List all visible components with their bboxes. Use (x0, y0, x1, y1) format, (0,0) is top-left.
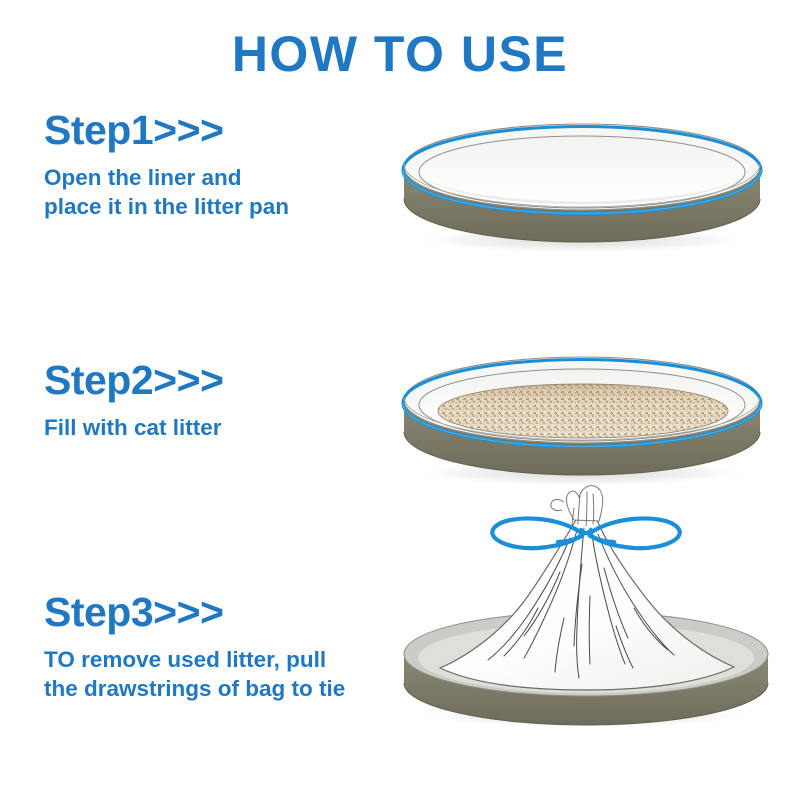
step-2-description: Fill with cat litter (44, 414, 223, 443)
step-1-heading: Step1>>> (44, 110, 289, 151)
step-1-description: Open the liner and place it in the litte… (44, 164, 289, 222)
step-3-text-block: Step3>>> TO remove used litter, pull the… (44, 592, 345, 704)
how-to-use-infographic: HOW TO USE Step1>>> Open the liner and p… (0, 0, 800, 800)
step-2-heading: Step2>>> (44, 360, 223, 401)
step-3-heading: Step3>>> (44, 592, 345, 633)
bag-gathered-neck (551, 486, 603, 521)
step-2-text-block: Step2>>> Fill with cat litter (44, 360, 223, 443)
step-3-illustration-tied-bag (378, 468, 790, 730)
step-1-text-block: Step1>>> Open the liner and place it in … (44, 110, 289, 222)
page-title: HOW TO USE (0, 28, 800, 81)
cat-litter-fill (438, 384, 728, 438)
step-1-illustration-empty-pan (382, 112, 782, 257)
step-3-description: TO remove used litter, pull the drawstri… (44, 646, 345, 704)
bag-body (440, 520, 734, 690)
drawstring-bag (440, 486, 734, 690)
